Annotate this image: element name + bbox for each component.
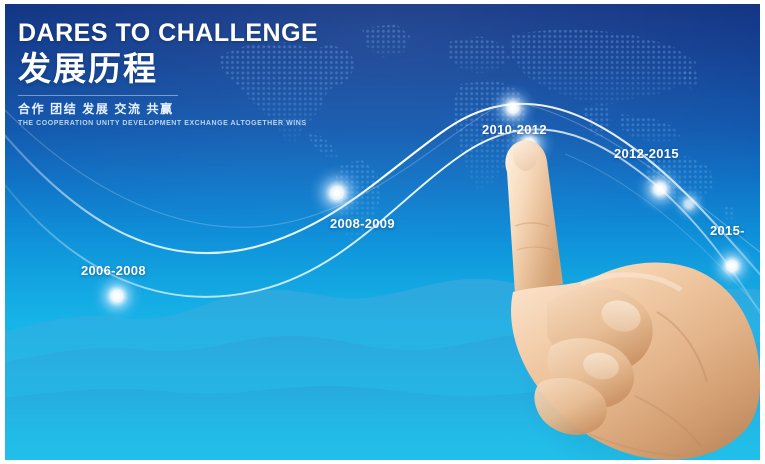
milestone-label-2010-2012[interactable]: 2010-2012 [482,122,547,137]
banner-subtitle-cn: 合作 团结 发展 交流 共赢 [18,102,348,116]
milestone-label-2012-2015[interactable]: 2012-2015 [614,146,679,161]
banner-heading-block: DARES TO CHALLENGE 发展历程 合作 团结 发展 交流 共赢 T… [18,20,348,128]
banner-title-cn: 发展历程 [18,50,348,88]
pointing-hand-icon [485,134,760,460]
milestone-label-2006-2008[interactable]: 2006-2008 [81,263,146,278]
milestone-label-2008-2009[interactable]: 2008-2009 [330,216,395,231]
milestone-label-2015[interactable]: 2015- [710,223,745,238]
heading-divider [18,95,178,96]
banner-title-en: DARES TO CHALLENGE [18,20,348,46]
banner-subtitle-en: THE COOPERATION UNITY DEVELOPMENT EXCHAN… [18,120,348,129]
banner-stage: DARES TO CHALLENGE 发展历程 合作 团结 发展 交流 共赢 T… [0,0,765,464]
banner-frame: DARES TO CHALLENGE 发展历程 合作 团结 发展 交流 共赢 T… [5,4,760,460]
